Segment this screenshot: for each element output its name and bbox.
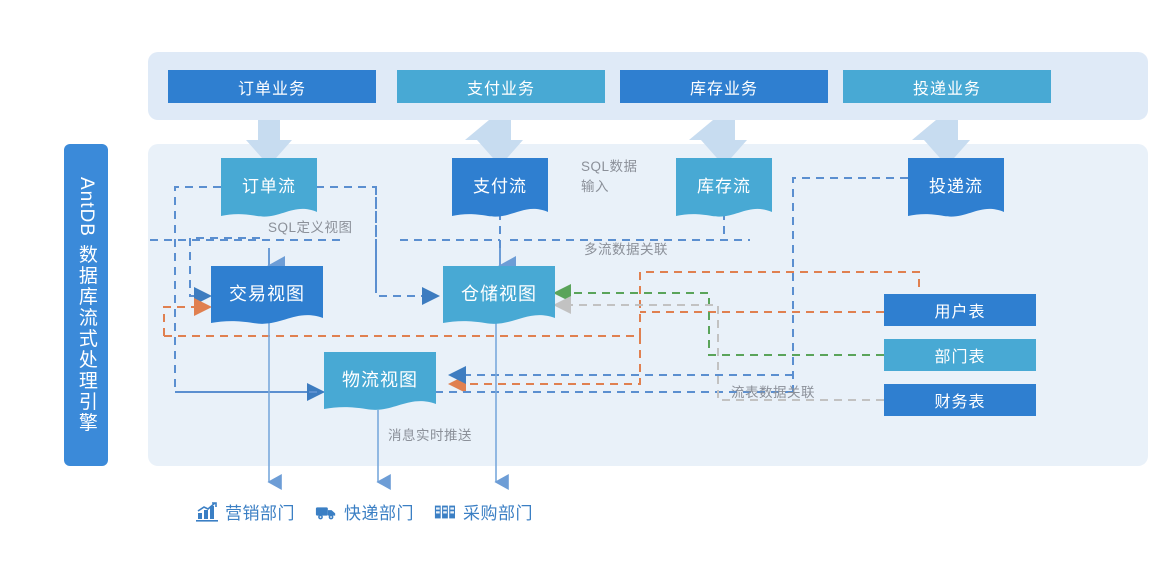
view-warehouse[interactable]: 仓储视图 bbox=[443, 266, 555, 328]
bar-chart-icon bbox=[196, 502, 218, 522]
business-box-payment[interactable]: 支付业务 bbox=[397, 70, 605, 103]
table-finance[interactable]: 财务表 bbox=[884, 384, 1036, 416]
legend-label-procurement: 采购部门 bbox=[463, 499, 533, 524]
business-box-order[interactable]: 订单业务 bbox=[168, 70, 376, 103]
legend-label-marketing: 营销部门 bbox=[225, 499, 295, 524]
business-box-inventory[interactable]: 库存业务 bbox=[620, 70, 828, 103]
stream-inventory-label: 库存流 bbox=[697, 158, 751, 197]
view-logistics[interactable]: 物流视图 bbox=[324, 352, 436, 414]
stream-payment[interactable]: 支付流 bbox=[452, 158, 548, 220]
table-user[interactable]: 用户表 bbox=[884, 294, 1036, 326]
stream-order[interactable]: 订单流 bbox=[221, 158, 317, 220]
annotation-realtime-push: 消息实时推送 bbox=[388, 424, 472, 444]
legend-label-express: 快递部门 bbox=[344, 499, 414, 524]
stream-order-label: 订单流 bbox=[242, 158, 296, 197]
view-warehouse-label: 仓储视图 bbox=[461, 266, 537, 306]
lockers-icon bbox=[434, 502, 456, 522]
stream-inventory[interactable]: 库存流 bbox=[676, 158, 772, 220]
legend-item-marketing[interactable]: 营销部门 bbox=[196, 499, 295, 524]
sidebar-brand: AntDB bbox=[76, 177, 97, 237]
stream-payment-label: 支付流 bbox=[473, 158, 527, 197]
legend-item-express[interactable]: 快递部门 bbox=[315, 499, 414, 524]
table-department[interactable]: 部门表 bbox=[884, 339, 1036, 371]
view-transaction[interactable]: 交易视图 bbox=[211, 266, 323, 328]
annotation-stream-table-relation: 流表数据关联 bbox=[731, 381, 815, 401]
business-box-delivery[interactable]: 投递业务 bbox=[843, 70, 1051, 103]
diagram-canvas: AntDB 数据库流式处理引擎 订单业务 支付业务 库存业务 投递业务 订单流 … bbox=[0, 0, 1166, 562]
stream-delivery[interactable]: 投递流 bbox=[908, 158, 1004, 220]
legend: 营销部门 快递部门 bbox=[196, 499, 533, 524]
truck-icon bbox=[315, 502, 337, 522]
annotation-multi-stream-relation: 多流数据关联 bbox=[584, 238, 668, 258]
annotation-sql-input: SQL数据输入 bbox=[581, 157, 643, 196]
sidebar-subtitle: 数据库流式处理引擎 bbox=[76, 244, 97, 433]
sidebar-antdb-engine: AntDB 数据库流式处理引擎 bbox=[64, 144, 108, 466]
stream-delivery-label: 投递流 bbox=[929, 158, 983, 197]
view-logistics-label: 物流视图 bbox=[342, 352, 418, 392]
view-transaction-label: 交易视图 bbox=[229, 266, 305, 306]
sidebar-label: AntDB 数据库流式处理引擎 bbox=[74, 177, 98, 433]
legend-item-procurement[interactable]: 采购部门 bbox=[434, 499, 533, 524]
